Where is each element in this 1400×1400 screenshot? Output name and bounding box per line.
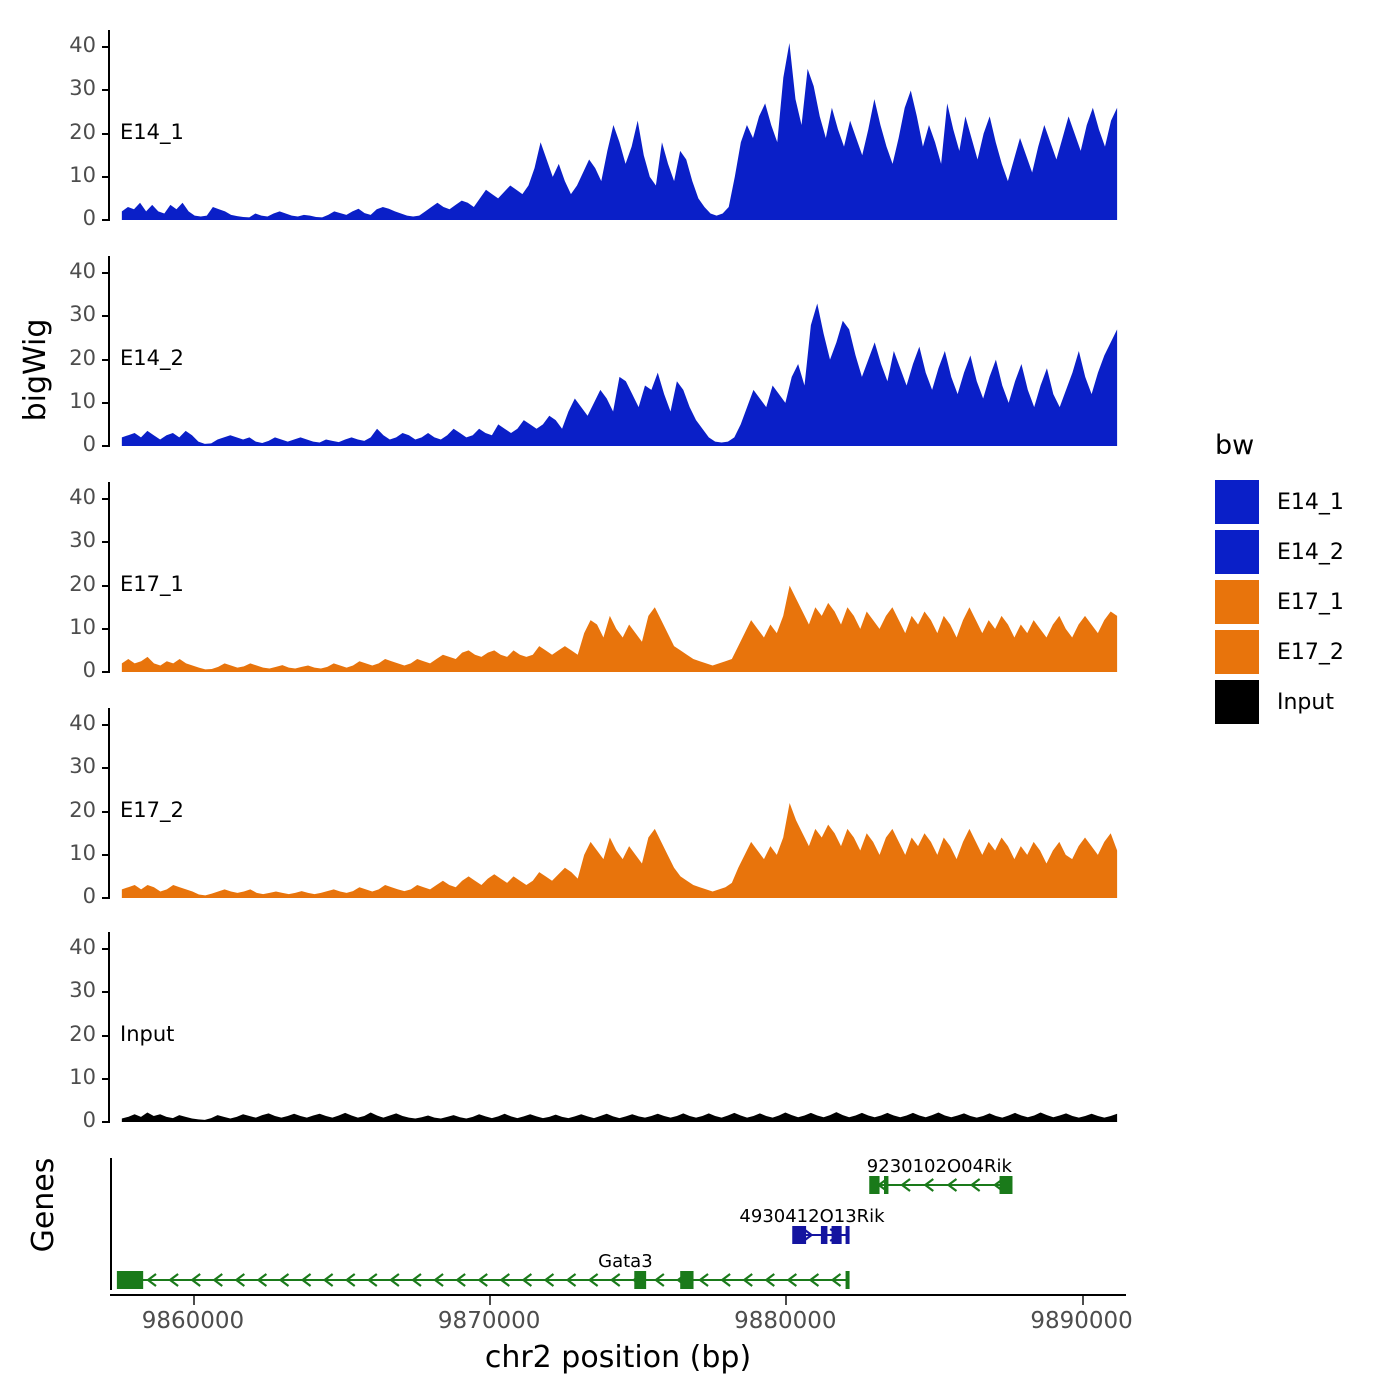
y-tick-e14_1-20	[102, 133, 110, 135]
y-tick-label-e17_2-0: 0	[26, 884, 96, 908]
y-tick-label-e14_1-40: 40	[26, 33, 96, 57]
x-tick-9880000	[785, 1296, 787, 1305]
legend-swatch-e14_1	[1215, 480, 1259, 524]
legend-label-e17_2: E17_2	[1277, 640, 1344, 665]
signal-area-e17_1	[122, 586, 1117, 672]
x-axis-title: chr2 position (bp)	[110, 1340, 1126, 1375]
y-tick-label-input-0: 0	[26, 1108, 96, 1132]
legend-label-e17_1: E17_1	[1277, 590, 1344, 615]
gene-exon	[680, 1271, 693, 1289]
signal-area-e14_1	[122, 43, 1117, 220]
y-tick-e17_1-10	[102, 628, 110, 630]
y-tick-label-input-40: 40	[26, 935, 96, 959]
y-tick-label-e14_1-10: 10	[26, 163, 96, 187]
track-plot-e17_2	[110, 708, 1126, 898]
track-plot-input	[110, 932, 1126, 1122]
y-tick-e14_2-20	[102, 359, 110, 361]
x-tick-9870000	[489, 1296, 491, 1305]
legend-title: bw	[1215, 430, 1395, 461]
x-tick-label-9880000: 9880000	[675, 1308, 895, 1334]
y-tick-label-e17_1-0: 0	[26, 658, 96, 682]
legend-item-e14_2[interactable]: E14_2	[1215, 527, 1395, 577]
genes-svg: 9230102O04Rik4930412O13RikGata3	[110, 1150, 1126, 1310]
y-tick-e17_2-30	[102, 767, 110, 769]
signal-area-input	[122, 1112, 1117, 1122]
y-tick-e17_1-0	[102, 671, 110, 673]
legend: bw E14_1E14_2E17_1E17_2Input	[1215, 430, 1395, 727]
gene-end-cap	[117, 1271, 121, 1289]
y-tick-label-e14_2-0: 0	[26, 432, 96, 456]
y-tick-label-e14_2-30: 30	[26, 302, 96, 326]
y-tick-e17_2-40	[102, 724, 110, 726]
legend-item-input[interactable]: Input	[1215, 677, 1395, 727]
y-tick-e17_2-10	[102, 854, 110, 856]
y-tick-e14_1-30	[102, 89, 110, 91]
x-tick-9890000	[1082, 1296, 1084, 1305]
y-tick-e14_2-40	[102, 272, 110, 274]
y-tick-e17_1-20	[102, 585, 110, 587]
gene-end-cap	[846, 1271, 850, 1289]
gene-end-cap	[869, 1176, 873, 1194]
y-tick-label-e14_2-40: 40	[26, 259, 96, 283]
gene-label-gata3: Gata3	[598, 1251, 653, 1272]
y-tick-label-e17_1-30: 30	[26, 528, 96, 552]
gene-exon	[821, 1226, 828, 1244]
track-plot-e14_1	[110, 30, 1126, 220]
signal-area-e17_2	[122, 803, 1117, 898]
y-tick-label-input-10: 10	[26, 1065, 96, 1089]
y-tick-e14_2-10	[102, 402, 110, 404]
y-tick-label-e14_1-30: 30	[26, 76, 96, 100]
y-tick-label-e14_2-20: 20	[26, 346, 96, 370]
legend-items: E14_1E14_2E17_1E17_2Input	[1215, 477, 1395, 727]
y-tick-label-e17_1-10: 10	[26, 615, 96, 639]
y-tick-e14_2-30	[102, 315, 110, 317]
legend-label-e14_2: E14_2	[1277, 540, 1344, 565]
legend-label-e14_1: E14_1	[1277, 490, 1344, 515]
y-tick-e17_2-20	[102, 811, 110, 813]
x-tick-label-9860000: 9860000	[83, 1308, 303, 1334]
genes-track-panel: 9230102O04Rik4930412O13RikGata3	[0, 1150, 1400, 1310]
y-tick-label-e17_2-20: 20	[26, 798, 96, 822]
gene-end-cap	[792, 1226, 796, 1244]
y-tick-input-20	[102, 1035, 110, 1037]
gene-exon	[884, 1176, 888, 1194]
legend-swatch-e17_2	[1215, 630, 1259, 674]
legend-item-e17_1[interactable]: E17_1	[1215, 577, 1395, 627]
gene-label-9230102o04rik: 9230102O04Rik	[867, 1156, 1013, 1177]
y-tick-label-e14_2-10: 10	[26, 389, 96, 413]
gene-label-4930412o13rik: 4930412O13Rik	[739, 1206, 885, 1227]
gene-end-cap	[1008, 1176, 1012, 1194]
legend-label-input: Input	[1277, 690, 1334, 715]
y-tick-input-40	[102, 948, 110, 950]
y-tick-label-input-20: 20	[26, 1022, 96, 1046]
x-tick-label-9870000: 9870000	[379, 1308, 599, 1334]
y-tick-e14_2-0	[102, 445, 110, 447]
y-tick-label-e14_1-20: 20	[26, 120, 96, 144]
y-tick-e14_1-10	[102, 176, 110, 178]
y-tick-label-e17_2-30: 30	[26, 754, 96, 778]
y-tick-e14_1-0	[102, 219, 110, 221]
legend-item-e14_1[interactable]: E14_1	[1215, 477, 1395, 527]
track-plot-e17_1	[110, 482, 1126, 672]
x-tick-label-9890000: 9890000	[972, 1308, 1192, 1334]
legend-swatch-e17_1	[1215, 580, 1259, 624]
legend-swatch-input	[1215, 680, 1259, 724]
y-tick-label-e14_1-0: 0	[26, 206, 96, 230]
x-axis-line	[110, 1294, 1126, 1296]
legend-swatch-e14_2	[1215, 530, 1259, 574]
gene-exon	[832, 1226, 842, 1244]
legend-item-e17_2[interactable]: E17_2	[1215, 627, 1395, 677]
y-tick-label-e17_1-40: 40	[26, 485, 96, 509]
track-plot-e14_2	[110, 256, 1126, 446]
y-tick-label-input-30: 30	[26, 978, 96, 1002]
x-tick-9860000	[193, 1296, 195, 1305]
y-tick-e17_1-30	[102, 541, 110, 543]
y-tick-e17_2-0	[102, 897, 110, 899]
signal-area-e14_2	[122, 304, 1117, 447]
gene-end-cap	[846, 1226, 850, 1244]
gene-exon	[634, 1271, 646, 1289]
y-tick-label-e17_1-20: 20	[26, 572, 96, 596]
y-tick-e17_1-40	[102, 498, 110, 500]
gene-exon	[119, 1271, 143, 1289]
y-tick-label-e17_2-40: 40	[26, 711, 96, 735]
y-tick-e14_1-40	[102, 46, 110, 48]
y-tick-label-e17_2-10: 10	[26, 841, 96, 865]
y-tick-input-30	[102, 991, 110, 993]
y-tick-input-10	[102, 1078, 110, 1080]
y-tick-input-0	[102, 1121, 110, 1123]
